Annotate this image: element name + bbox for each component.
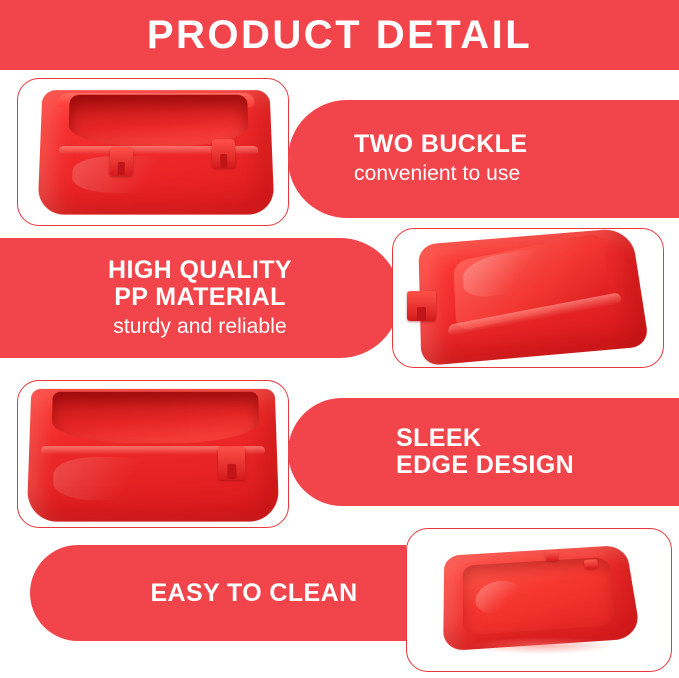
feeder-body [418, 228, 650, 366]
feeder-gloss-highlight [471, 576, 526, 620]
feeder-cavity [51, 391, 259, 443]
buckle-clip-left [545, 551, 559, 561]
feeder-body [37, 90, 274, 214]
product-image-edge-close-up [18, 381, 288, 527]
header-banner: PRODUCT DETAIL [0, 0, 679, 70]
feature-subtitle: convenient to use [354, 161, 520, 186]
product-photo-sleek-edge [17, 380, 289, 528]
product-image-underside-view [393, 229, 663, 367]
buckle-clip-right [584, 559, 598, 570]
feeder-cavity [68, 95, 249, 146]
product-image-top-down-view [407, 529, 671, 671]
product-image-angled-view [18, 79, 288, 225]
feature-title-line1: HIGH QUALITY [108, 257, 292, 284]
feature-subtitle: sturdy and reliable [113, 314, 287, 339]
feeder-body [26, 389, 279, 522]
feature-label-two-buckle: TWO BUCKLE convenient to use [288, 100, 679, 218]
feeder-gloss-highlight [52, 457, 158, 500]
feature-title-line1: SLEEK [396, 425, 481, 452]
buckle-clip-right [211, 139, 235, 168]
feeder-cavity [463, 557, 620, 636]
feature-label-high-quality: HIGH QUALITY PP MATERIAL sturdy and reli… [0, 238, 400, 358]
feature-label-sleek-edge: SLEEK EDGE DESIGN [288, 398, 679, 506]
feature-title-line2: PP MATERIAL [114, 284, 286, 311]
feature-title: EASY TO CLEAN [150, 580, 357, 607]
page-title: PRODUCT DETAIL [147, 15, 532, 55]
feeder-body [443, 545, 641, 651]
feature-title: TWO BUCKLE [354, 131, 527, 158]
product-photo-easy-to-clean [406, 528, 672, 672]
product-photo-two-buckle [17, 78, 289, 226]
feature-title-line2: EDGE DESIGN [396, 452, 574, 479]
buckle-clip-left [109, 147, 133, 176]
product-photo-pp-material [392, 228, 664, 368]
product-shadow [470, 637, 613, 654]
buckle-clip-left [407, 291, 437, 321]
buckle-clip-right [217, 446, 245, 479]
feature-label-easy-to-clean: EASY TO CLEAN [30, 545, 406, 641]
